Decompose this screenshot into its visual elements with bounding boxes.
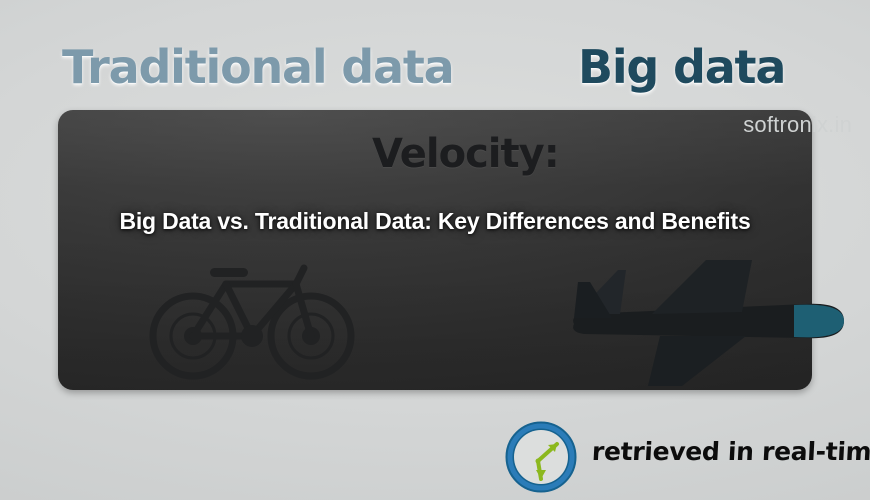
clock-icon (505, 421, 577, 498)
panel-section-label-velocity: Velocity: (372, 131, 559, 177)
footer-caption: retrieved in real-time (591, 437, 870, 466)
bicycle-icon (148, 258, 358, 388)
airplane-icon (556, 258, 856, 393)
infographic-canvas: Traditional data Big data Velocity: soft… (0, 0, 870, 500)
page-title: Big Data vs. Traditional Data: Key Diffe… (0, 208, 870, 235)
watermark-softronix: softronix.in (743, 112, 852, 138)
header-traditional-data: Traditional data (62, 40, 453, 94)
header-big-data: Big data (578, 40, 785, 94)
